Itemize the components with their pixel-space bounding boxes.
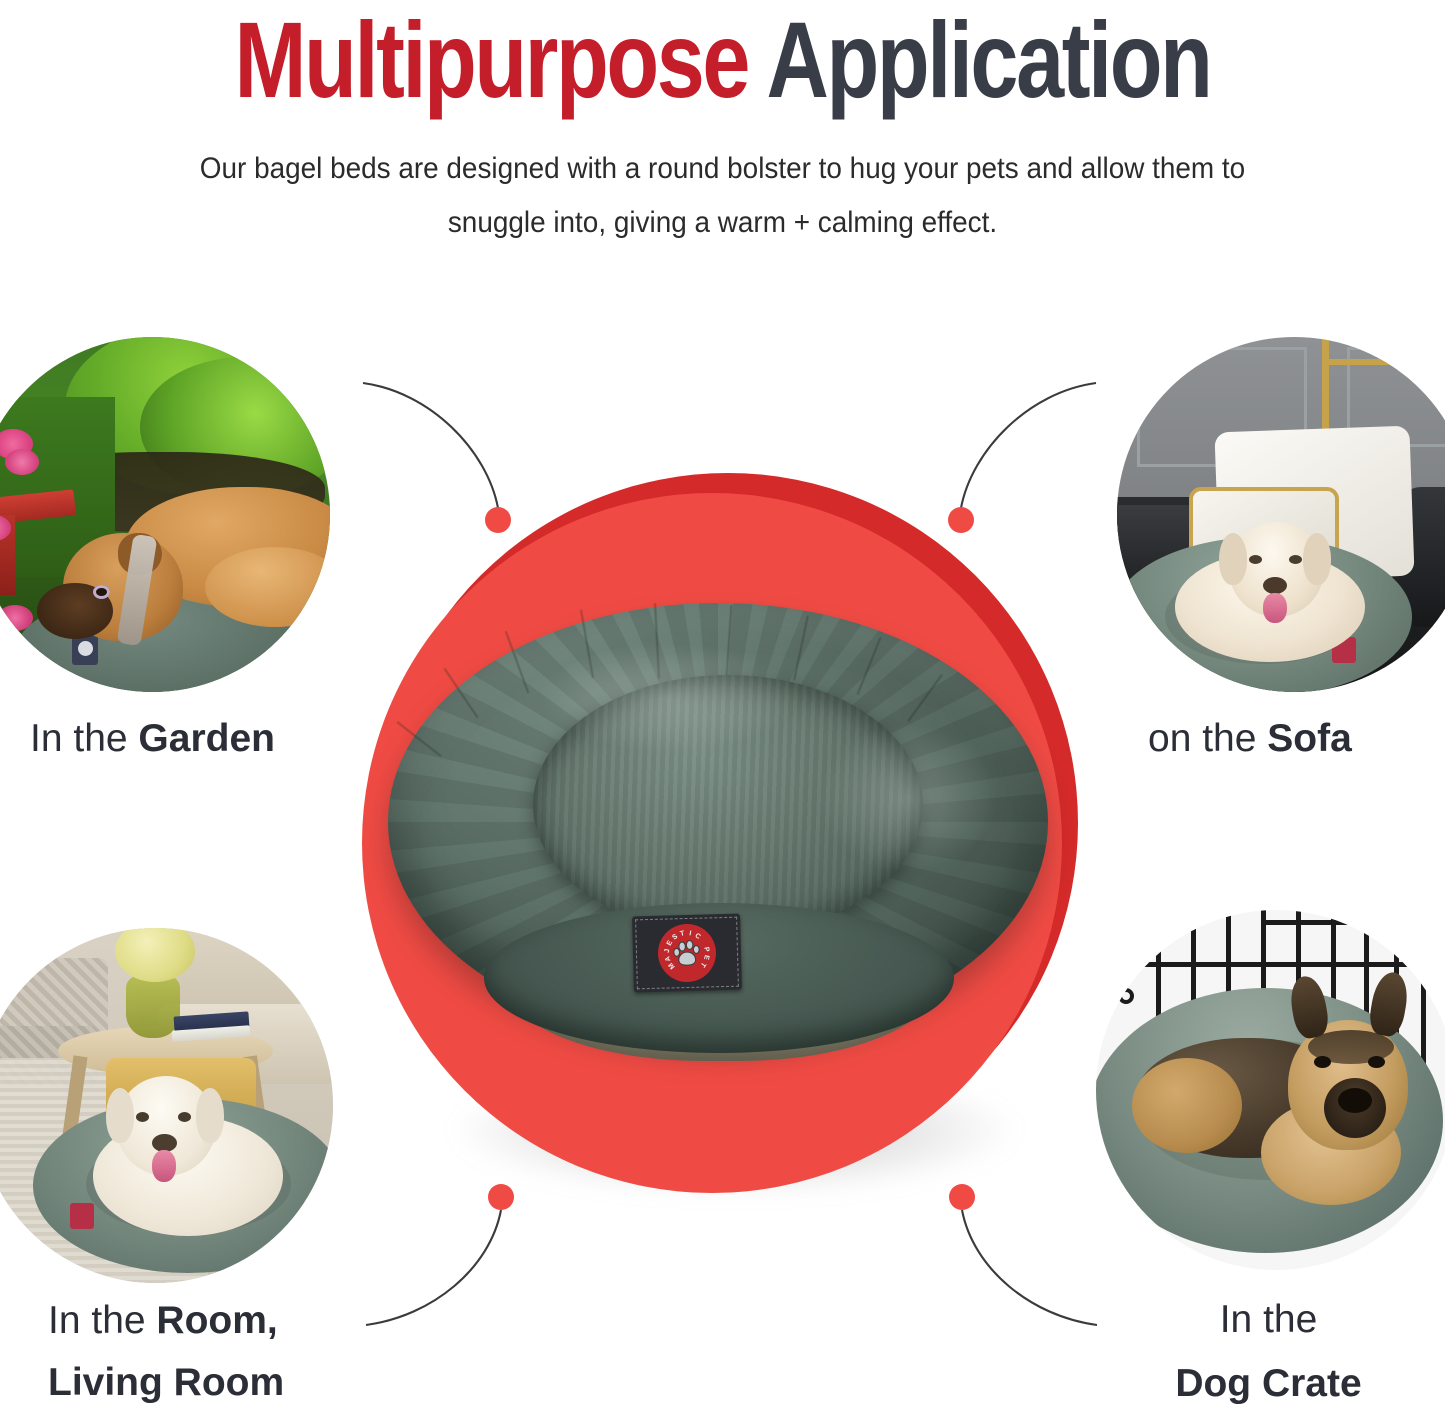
crate-dog-ear <box>1367 970 1412 1039</box>
crate-bar <box>1421 950 1426 1070</box>
sofa-dog-ear <box>1219 533 1247 585</box>
brand-tag-char: P <box>702 946 710 952</box>
brand-tag-char: E <box>666 939 675 947</box>
scene-sofa <box>1117 337 1445 692</box>
sofa-wall-trim <box>1322 359 1422 365</box>
callout-image-dog-crate <box>1096 910 1445 1270</box>
callout-label-dog-crate-line2: Dog Crate <box>1096 1352 1441 1416</box>
sofa-dog-eye <box>1249 555 1262 564</box>
crate-bar-horizontal <box>1266 920 1381 925</box>
brand-tag-text: MAJESTIC PET <box>657 923 716 982</box>
sofa-dog-tongue <box>1263 593 1287 623</box>
header: Multipurpose Application Our bagel beds … <box>0 0 1445 250</box>
brand-tag-char: S <box>671 933 679 942</box>
callout-label-living-room-strong: Room, <box>156 1299 277 1342</box>
crate-dog-nose <box>1338 1088 1372 1113</box>
bed-highlight <box>818 723 998 873</box>
living-bed-logo <box>70 1203 94 1229</box>
scene-dog-crate <box>1096 910 1445 1270</box>
crate-dog-eye <box>1314 1056 1331 1068</box>
callout-label-sofa-strong: Sofa <box>1267 717 1352 760</box>
living-dog-eye <box>178 1112 191 1122</box>
callout-label-sofa-prefix: on the <box>1148 717 1267 760</box>
page-subtitle: Our bagel beds are designed with a round… <box>51 142 1395 250</box>
brand-tag-char: E <box>702 954 710 961</box>
page-title: Multipurpose Application <box>145 0 1301 116</box>
garden-flower <box>5 449 39 475</box>
callout-label-dog-crate-line1: In the <box>1096 1288 1441 1352</box>
scene-garden <box>0 337 330 692</box>
garden-dog-eye <box>93 585 110 599</box>
brand-disc: MAJESTIC PET <box>657 923 716 982</box>
page-title-red: Multipurpose <box>235 0 749 120</box>
callout-label-living-room-line2: Living Room <box>48 1352 284 1414</box>
crate-bar <box>1156 910 1161 1030</box>
living-dog-eye <box>136 1112 149 1122</box>
callout-label-living-room-prefix: In the <box>48 1299 156 1342</box>
brand-tag-char: I <box>689 930 693 937</box>
brand-tag-char: M <box>667 961 676 970</box>
sofa-dog-eye <box>1289 555 1302 564</box>
scene-living-room <box>0 928 333 1283</box>
living-dog-ear <box>106 1088 134 1143</box>
callout-label-sofa: on the Sofa <box>1148 712 1352 765</box>
product-dog-bed: MAJESTIC PET <box>388 603 1048 1093</box>
callout-label-dog-crate: In the Dog Crate <box>1096 1288 1441 1416</box>
callout-label-garden-strong: Garden <box>138 717 275 760</box>
page-title-dark: Application <box>748 0 1210 120</box>
sofa-dog-ear <box>1303 533 1331 585</box>
living-dog-ear <box>196 1088 224 1143</box>
brand-tag-char: T <box>679 930 685 938</box>
bed-highlight <box>538 643 798 753</box>
callout-image-garden <box>0 337 330 692</box>
callout-label-living-room-line1: In the Room, <box>48 1290 284 1352</box>
living-dog-tongue <box>152 1150 176 1182</box>
living-vase <box>126 976 180 1038</box>
callout-label-living-room: In the Room, Living Room <box>48 1290 284 1414</box>
crate-dog-eye <box>1368 1056 1385 1068</box>
callout-image-living-room <box>0 928 333 1283</box>
brand-tag-char: T <box>698 961 706 969</box>
callout-image-sofa <box>1117 337 1445 692</box>
page-subtitle-line2: snuggle into, giving a warm + calming ef… <box>51 196 1395 250</box>
garden-bed-logo-disc <box>78 641 93 656</box>
brand-tag-char: J <box>664 948 671 953</box>
sofa-dog-nose <box>1263 577 1287 594</box>
brand-tag: MAJESTIC PET <box>632 914 742 993</box>
crate-bar-horizontal <box>1126 962 1426 967</box>
crate-dog-haunch <box>1132 1058 1242 1153</box>
callout-label-garden: In the Garden <box>30 712 275 765</box>
brand-tag-char: C <box>693 932 701 941</box>
crate-latch-icon <box>1118 988 1134 1004</box>
callout-label-garden-prefix: In the <box>30 717 138 760</box>
page-subtitle-line1: Our bagel beds are designed with a round… <box>51 142 1395 196</box>
